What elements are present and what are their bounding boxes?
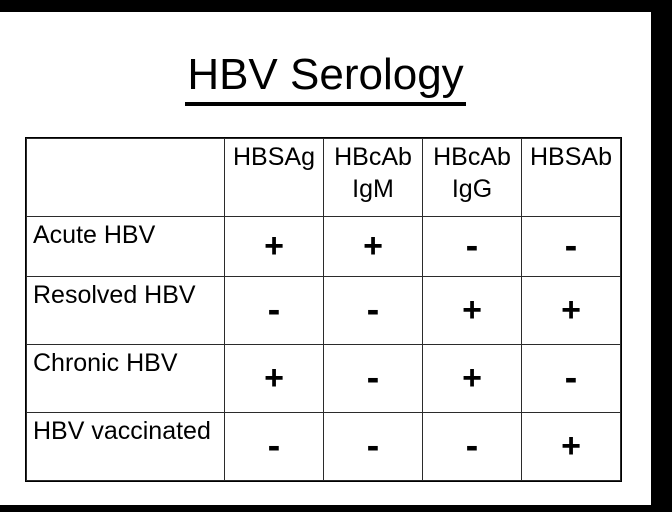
- serology-mark: +: [522, 277, 620, 342]
- table-row: Resolved HBV - - + +: [27, 277, 621, 345]
- column-header-line2: IgG: [431, 173, 513, 205]
- page-title: HBV Serology: [185, 50, 465, 106]
- table-corner-cell: [27, 139, 225, 217]
- serology-mark: -: [324, 345, 422, 410]
- cell-value: -: [324, 413, 423, 481]
- serology-mark: -: [225, 413, 323, 478]
- cell-value: +: [324, 217, 423, 277]
- column-header-line1: HBcAb: [334, 143, 412, 171]
- serology-mark: -: [324, 277, 422, 342]
- cell-value: +: [423, 277, 522, 345]
- cell-value: -: [324, 345, 423, 413]
- column-header-line1: HBSAg: [233, 143, 315, 171]
- table-row: Acute HBV + + - -: [27, 217, 621, 277]
- serology-mark: +: [324, 217, 422, 274]
- hbv-serology-table: HBSAg HBcAb IgM HBcAb IgG: [26, 138, 621, 481]
- row-label: HBV vaccinated: [27, 413, 224, 446]
- row-label-cell: Chronic HBV: [27, 345, 225, 413]
- row-label-cell: Resolved HBV: [27, 277, 225, 345]
- serology-mark: +: [225, 217, 323, 274]
- row-label-cell: HBV vaccinated: [27, 413, 225, 481]
- column-header-hbsab: HBSAb: [522, 139, 621, 217]
- cell-value: +: [225, 217, 324, 277]
- column-header-line2: IgM: [332, 173, 414, 205]
- cell-value: -: [324, 277, 423, 345]
- cell-value: -: [225, 277, 324, 345]
- column-header-hbcab-igg: HBcAb IgG: [423, 139, 522, 217]
- cell-value: +: [423, 345, 522, 413]
- row-label: Acute HBV: [27, 217, 224, 250]
- table-row: Chronic HBV + - + -: [27, 345, 621, 413]
- column-header-line1: HBcAb: [433, 143, 511, 171]
- serology-mark: -: [522, 217, 620, 274]
- column-header-hbcab-igm: HBcAb IgM: [324, 139, 423, 217]
- serology-mark: +: [423, 345, 521, 410]
- row-label: Chronic HBV: [27, 345, 224, 378]
- serology-mark: +: [423, 277, 521, 342]
- serology-mark: -: [225, 277, 323, 342]
- cell-value: -: [522, 217, 621, 277]
- title-container: HBV Serology: [0, 50, 651, 106]
- column-header-line1: HBSAb: [530, 143, 612, 171]
- serology-mark: -: [324, 413, 422, 478]
- cell-value: +: [225, 345, 324, 413]
- column-header-hbsag: HBSAg: [225, 139, 324, 217]
- cell-value: +: [522, 277, 621, 345]
- serology-mark: -: [522, 345, 620, 410]
- serology-mark: +: [522, 413, 620, 478]
- table-header-row: HBSAg HBcAb IgM HBcAb IgG: [27, 139, 621, 217]
- table-row: HBV vaccinated - - - +: [27, 413, 621, 481]
- cell-value: -: [423, 413, 522, 481]
- corner-label: [27, 139, 224, 216]
- row-label: Resolved HBV: [27, 277, 224, 310]
- cell-value: -: [423, 217, 522, 277]
- serology-mark: -: [423, 413, 521, 478]
- serology-mark: +: [225, 345, 323, 410]
- slide-canvas: HBV Serology HBSAg: [0, 12, 651, 505]
- cell-value: -: [522, 345, 621, 413]
- cell-value: +: [522, 413, 621, 481]
- serology-mark: -: [423, 217, 521, 274]
- row-label-cell: Acute HBV: [27, 217, 225, 277]
- cell-value: -: [225, 413, 324, 481]
